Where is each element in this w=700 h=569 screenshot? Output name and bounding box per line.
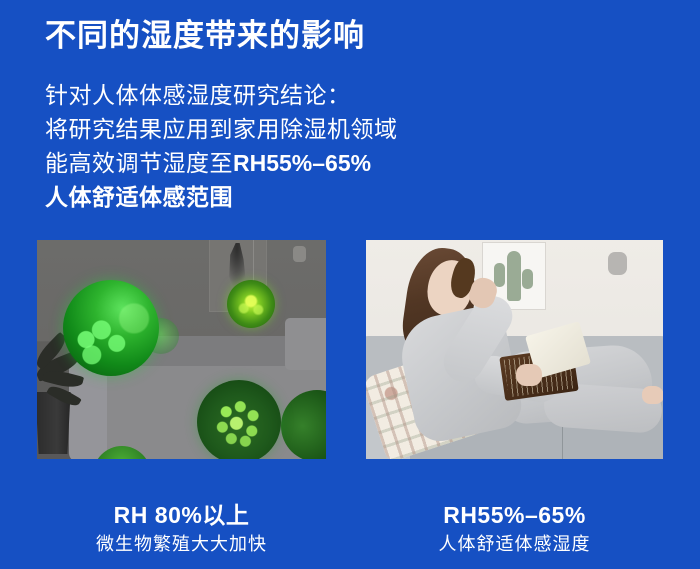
body-line-2: 将研究结果应用到家用除湿机领域: [45, 112, 398, 146]
dark-living-room-scene: [37, 240, 326, 459]
caption-comfort-humidity: RH55%–65% 人体舒适体感湿度: [366, 500, 663, 558]
body-line-3-emphasis: RH55%–65%: [233, 150, 371, 176]
microbe-sphere-hanging: [227, 280, 275, 328]
microbe-sphere-large: [63, 280, 159, 376]
person-foot: [642, 386, 663, 404]
person-hand-on-book: [516, 364, 542, 386]
pendant-cord: [253, 240, 254, 284]
body-copy: 针对人体体感湿度研究结论： 将研究结果应用到家用除湿机领域 能高效调节湿度至RH…: [45, 78, 398, 214]
caption-title: RH 80%以上: [37, 500, 326, 530]
body-line-4: 人体舒适体感范围: [45, 180, 398, 214]
body-line-3-prefix: 能高效调节湿度至: [45, 150, 233, 176]
caption-high-humidity: RH 80%以上 微生物繁殖大大加快: [37, 500, 326, 558]
poster-root: 不同的湿度带来的影响 针对人体体感湿度研究结论： 将研究结果应用到家用除湿机领域…: [0, 0, 700, 569]
photo-comfort-humidity: [366, 240, 663, 459]
bright-living-room-scene: [366, 240, 663, 459]
microbe-sphere-lower: [197, 380, 281, 459]
page-title: 不同的湿度带来的影响: [45, 16, 365, 56]
cactus-icon: [507, 251, 521, 301]
body-line-1: 针对人体体感湿度研究结论：: [45, 78, 398, 112]
body-line-3: 能高效调节湿度至RH55%–65%: [45, 146, 398, 180]
caption-subtitle: 人体舒适体感湿度: [366, 530, 663, 558]
caption-subtitle: 微生物繁殖大大加快: [37, 530, 326, 558]
wall-speaker-icon: [608, 252, 627, 275]
wall-switch-icon: [293, 246, 306, 262]
caption-title: RH55%–65%: [366, 500, 663, 530]
photo-high-humidity: [37, 240, 326, 459]
